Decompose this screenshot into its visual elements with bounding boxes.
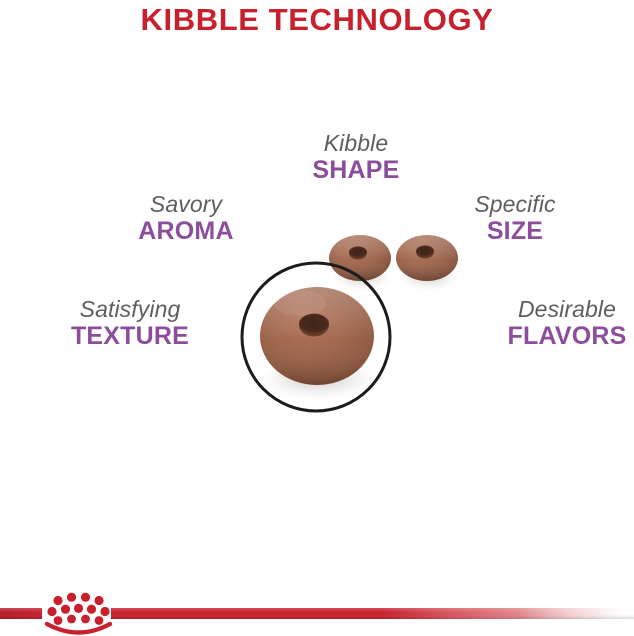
brand-footer [0,584,634,636]
callout-aroma-key: AROMA [112,218,260,245]
callout-size-lead: Specific [452,192,578,217]
callout-texture-key: TEXTURE [48,323,212,350]
kibble-technology-infographic: KIBBLE TECHNOLOGY [0,0,634,636]
callout-texture-lead: Satisfying [48,297,212,322]
callout-shape-key: SHAPE [287,157,425,184]
callout-shape-lead: Kibble [287,131,425,156]
callout-aroma-lead: Savory [112,192,260,217]
kibble-large [258,287,378,398]
footer-bar-right [111,608,634,619]
royal-canin-crown-logo [47,593,110,633]
callout-flavors-key: FLAVORS [500,323,634,350]
callout-flavors-lead: Desirable [500,297,634,322]
kibble-small-left [329,235,395,290]
crown-arc [47,624,110,633]
callout-aroma: Savory AROMA [112,192,260,245]
callout-size-key: SIZE [452,218,578,245]
callout-shape: Kibble SHAPE [287,131,425,184]
footer-bar-left [0,608,42,619]
callout-texture: Satisfying TEXTURE [48,297,212,350]
callout-flavors: Desirable FLAVORS [500,297,634,350]
callout-size: Specific SIZE [452,192,578,245]
